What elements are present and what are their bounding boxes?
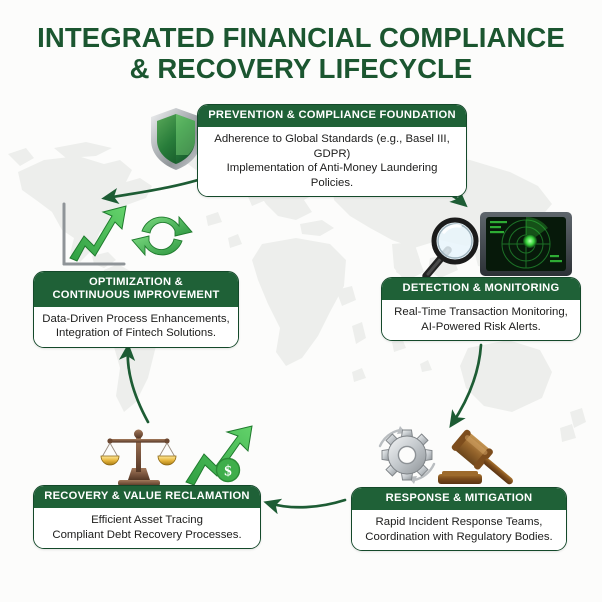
node-response-body-line-2: Coordination with Regulatory Bodies. bbox=[358, 530, 560, 545]
arrow-detection-to-response bbox=[452, 345, 481, 424]
node-prevention-body-line-2: Implementation of Anti-Money Laundering … bbox=[204, 161, 460, 190]
node-detection-title: DETECTION & MONITORING bbox=[382, 278, 580, 300]
node-response-body: Rapid Incident Response Teams, Coordinat… bbox=[352, 510, 566, 550]
node-detection-body-line-1: Real-Time Transaction Monitoring, bbox=[388, 305, 574, 320]
refresh-cycle-icon bbox=[132, 217, 192, 255]
arrow-response-to-recovery bbox=[268, 500, 345, 507]
infographic-canvas: INTEGRATED FINANCIAL COMPLIANCE & RECOVE… bbox=[0, 0, 602, 602]
magnifying-glass-icon bbox=[426, 220, 476, 276]
chart-growth-arrow-icon bbox=[70, 206, 126, 261]
node-recovery-title: RECOVERY & VALUE RECLAMATION bbox=[34, 486, 260, 508]
page-title: INTEGRATED FINANCIAL COMPLIANCE & RECOVE… bbox=[0, 22, 602, 84]
node-response[interactable]: RESPONSE & MITIGATION Rapid Incident Res… bbox=[351, 487, 567, 551]
node-response-title: RESPONSE & MITIGATION bbox=[352, 488, 566, 510]
scales-of-justice-icon bbox=[101, 430, 176, 487]
title-line-1: INTEGRATED FINANCIAL COMPLIANCE bbox=[37, 22, 565, 53]
node-recovery-body-line-2: Compliant Debt Recovery Processes. bbox=[40, 528, 254, 543]
node-response-body-line-1: Rapid Incident Response Teams, bbox=[358, 515, 560, 530]
node-prevention-title: PREVENTION & COMPLIANCE FOUNDATION bbox=[198, 105, 466, 127]
node-optimization-title-line-2: CONTINUOUS IMPROVEMENT bbox=[38, 289, 234, 303]
svg-text:$: $ bbox=[224, 464, 232, 480]
node-prevention-body: Adherence to Global Standards (e.g., Bas… bbox=[198, 127, 466, 196]
optimization-icons bbox=[58, 200, 200, 272]
recovery-icons: $ bbox=[100, 424, 260, 488]
gear-icon bbox=[382, 430, 432, 480]
node-optimization-body-line-1: Data-Driven Process Enhancements, bbox=[40, 312, 232, 327]
gavel-icon bbox=[438, 428, 520, 490]
node-detection[interactable]: DETECTION & MONITORING Real-Time Transac… bbox=[381, 277, 581, 341]
detection-icons bbox=[408, 208, 574, 280]
node-optimization[interactable]: OPTIMIZATION & CONTINUOUS IMPROVEMENT Da… bbox=[33, 271, 239, 348]
arrow-recovery-to-optimization bbox=[128, 348, 148, 422]
node-detection-body-line-2: AI-Powered Risk Alerts. bbox=[388, 320, 574, 335]
title-line-2: & RECOVERY LIFECYCLE bbox=[0, 53, 602, 84]
node-optimization-body-line-2: Integration of Fintech Solutions. bbox=[40, 326, 232, 341]
growth-arrow-dollar-icon: $ bbox=[186, 426, 252, 485]
node-recovery-body: Efficient Asset Tracing Compliant Debt R… bbox=[34, 508, 260, 548]
node-optimization-body: Data-Driven Process Enhancements, Integr… bbox=[34, 307, 238, 347]
node-optimization-title: OPTIMIZATION & CONTINUOUS IMPROVEMENT bbox=[34, 272, 238, 307]
node-optimization-title-line-1: OPTIMIZATION & bbox=[38, 276, 234, 290]
node-recovery-body-line-1: Efficient Asset Tracing bbox=[40, 513, 254, 528]
response-icons bbox=[372, 424, 522, 490]
node-prevention-body-line-1: Adherence to Global Standards (e.g., Bas… bbox=[204, 132, 460, 161]
node-detection-body: Real-Time Transaction Monitoring, AI-Pow… bbox=[382, 300, 580, 340]
node-prevention[interactable]: PREVENTION & COMPLIANCE FOUNDATION Adher… bbox=[197, 104, 467, 197]
node-recovery[interactable]: RECOVERY & VALUE RECLAMATION Efficient A… bbox=[33, 485, 261, 549]
